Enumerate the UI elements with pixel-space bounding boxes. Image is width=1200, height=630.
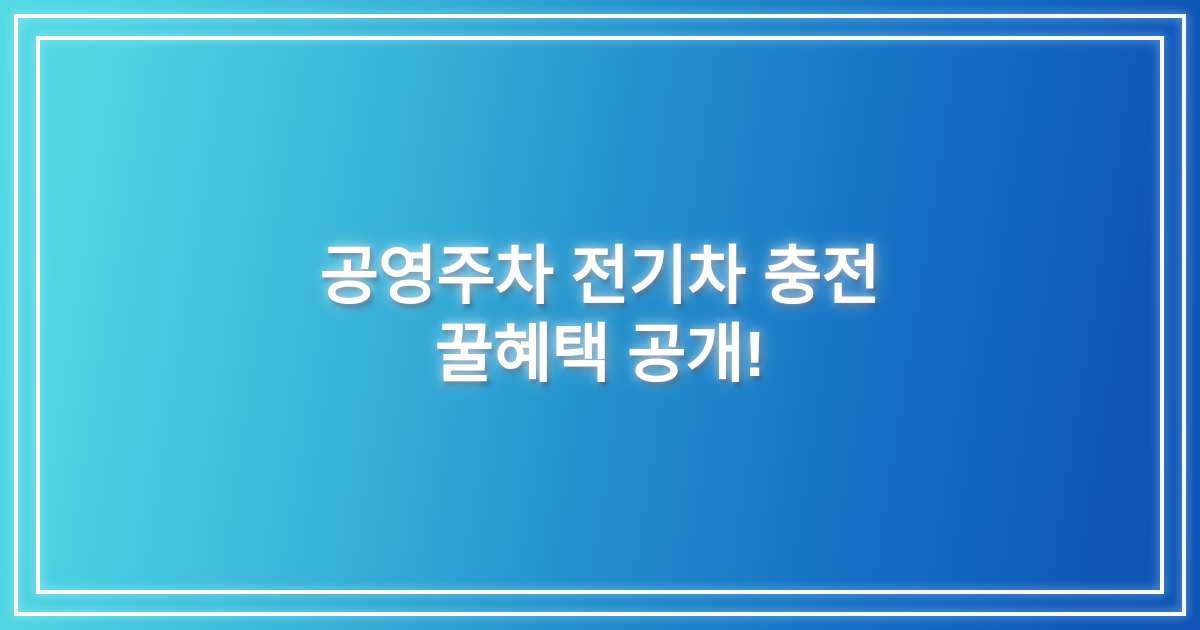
title-block: 공영주차 전기차 충전 꿀혜택 공개! — [0, 0, 1200, 630]
thumbnail-canvas: 공영주차 전기차 충전 꿀혜택 공개! — [0, 0, 1200, 630]
page-title: 공영주차 전기차 충전 꿀혜택 공개! — [240, 237, 960, 393]
